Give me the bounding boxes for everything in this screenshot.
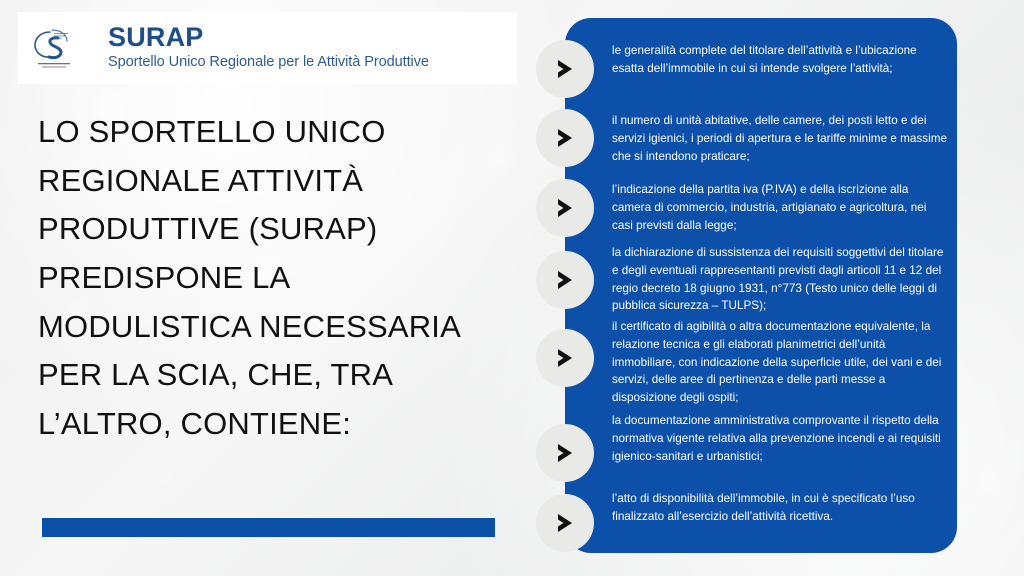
background-bokeh-speck [300, 84, 318, 102]
chevron-right-glyph [552, 440, 578, 466]
list-item-text: le generalità complete del titolare dell… [612, 42, 950, 78]
header-band: SURAP Sportello Unico Regionale per le A… [18, 12, 517, 84]
chevron-right-icon [536, 424, 594, 482]
list-item-text: l’indicazione della partita iva (P.IVA) … [612, 181, 950, 234]
chevron-right-glyph [552, 56, 578, 82]
chevron-right-icon [536, 40, 594, 98]
accent-bar [42, 518, 495, 537]
chevron-right-glyph [552, 510, 578, 536]
chevron-right-icon [536, 329, 594, 387]
background-bokeh-speck [980, 470, 1002, 492]
brand-subtitle: Sportello Unico Regionale per le Attivit… [108, 53, 429, 72]
chevron-right-glyph [552, 125, 578, 151]
chevron-right-icon [536, 179, 594, 237]
background-bokeh-speck [160, 470, 174, 484]
list-item-text: il certificato di agibilità o altra docu… [612, 318, 950, 407]
chevron-right-icon [536, 251, 594, 309]
chevron-right-icon [536, 494, 594, 552]
surap-logo [20, 14, 88, 82]
list-item-text: l’atto di disponibilità dell’immobile, i… [612, 490, 950, 526]
chevron-right-glyph [552, 267, 578, 293]
list-item-text: la dichiarazione di sussistenza dei requ… [612, 244, 950, 315]
list-item-text: il numero di unità abitative, delle came… [612, 112, 950, 165]
brand-title: SURAP [108, 24, 429, 52]
chevron-right-glyph [552, 195, 578, 221]
list-item-text: la documentazione amministrativa comprov… [612, 412, 950, 465]
chevron-right-glyph [552, 345, 578, 371]
chevron-right-icon [536, 109, 594, 167]
header-text-group: SURAP Sportello Unico Regionale per le A… [108, 24, 429, 73]
page-title: LO SPORTELLO UNICO REGIONALE ATTIVITÀ PR… [38, 108, 508, 449]
bullet-list: le generalità complete del titolare dell… [536, 18, 957, 553]
surap-cs-monogram-logo-icon [24, 18, 84, 78]
